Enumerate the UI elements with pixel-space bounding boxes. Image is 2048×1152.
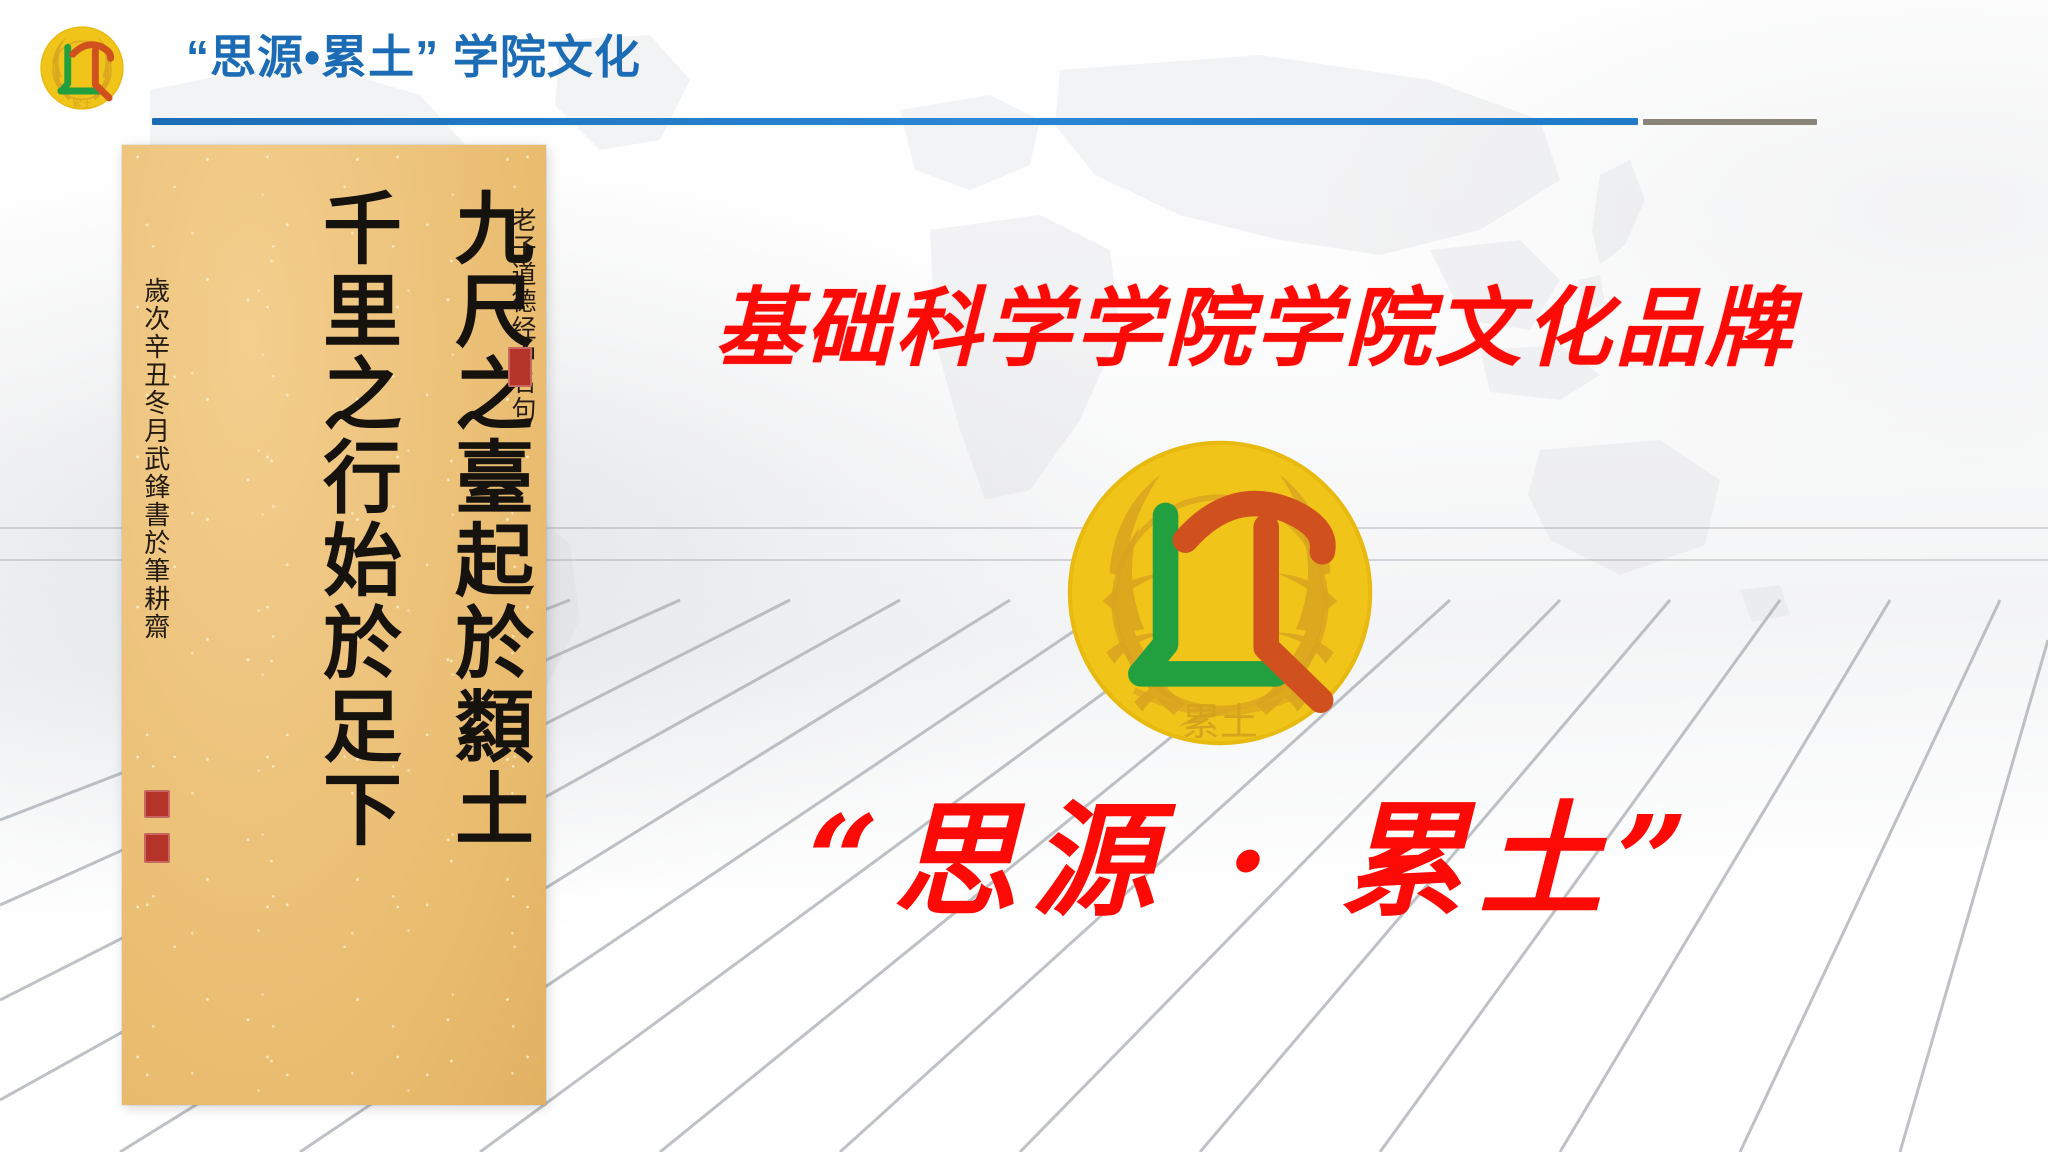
calligraphy-signature: 歲次辛丑冬月武鋒書於筆耕齋	[138, 277, 170, 641]
seal-lower-2-icon	[144, 833, 170, 863]
page-title: “思源•累土” 学院文化	[186, 34, 641, 80]
header-divider-grey	[1643, 119, 1817, 125]
brand-headline: 基础科学学院学院文化品牌	[575, 286, 1935, 372]
brand-slogan: “思源 · 累土”	[575, 800, 1935, 924]
calligraphy-column-1: 九尺之臺起於纇土	[446, 187, 528, 851]
header-divider-blue	[152, 118, 1638, 125]
calligraphy-scroll: 老子道德经中名句 九尺之臺起於纇土 千里之行始於足下 歲次辛丑冬月武鋒書於筆耕齋	[122, 145, 546, 1105]
emblem-bottom-text-main: 累土	[1182, 700, 1258, 744]
academy-emblem-icon-main: 累土	[1055, 428, 1385, 758]
academy-emblem-icon-header: 累土	[36, 22, 128, 114]
seal-lower-1-icon	[144, 790, 170, 818]
slide-canvas: 累土 “思源•累土” 学院文化 老子道德经中名句 九尺之臺起於纇土 千里之行始於…	[0, 0, 2048, 1152]
emblem-bottom-text: 累土	[72, 98, 92, 111]
slide-header: 累土 “思源•累土” 学院文化	[0, 0, 2048, 132]
seal-top-icon	[508, 347, 532, 387]
calligraphy-column-2: 千里之行始於足下	[314, 187, 396, 851]
